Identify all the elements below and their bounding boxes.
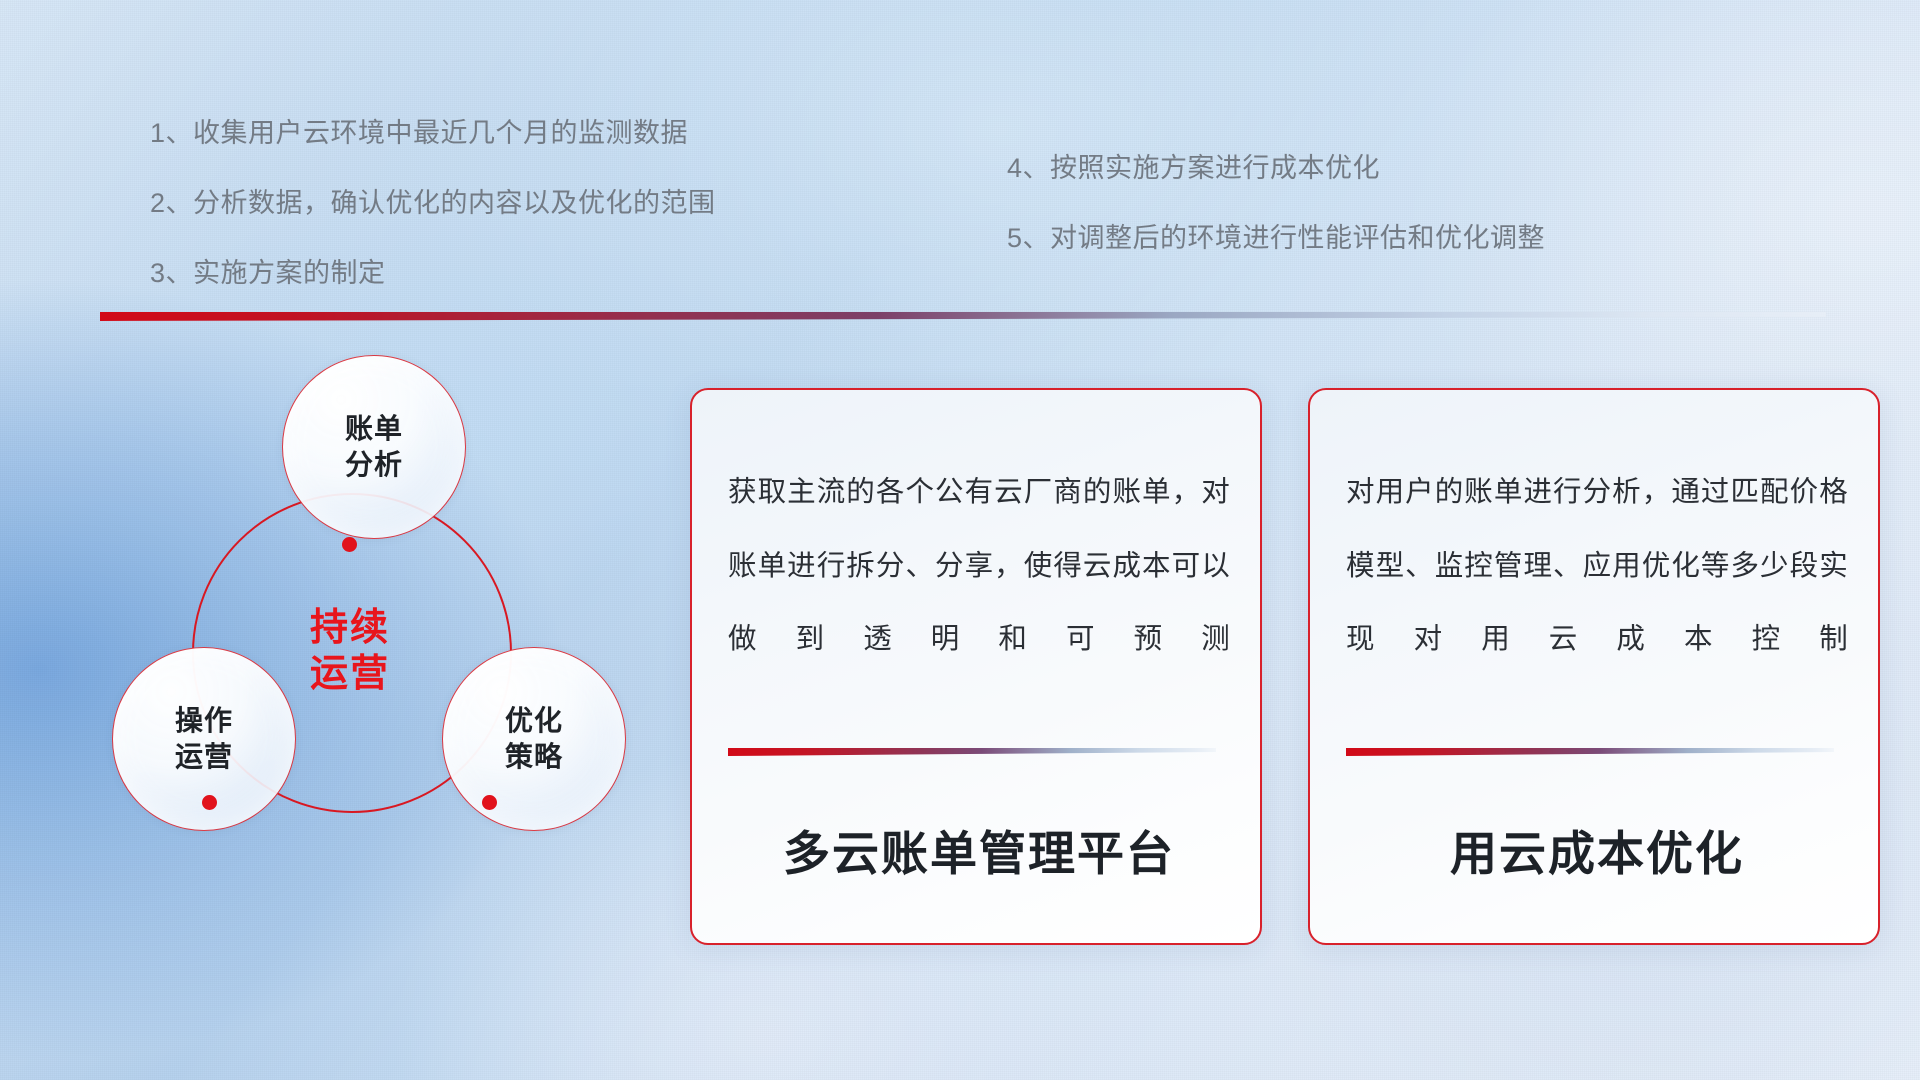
steps-list-right: 4、按照实施方案进行成本优化 5、对调整后的环境进行性能评估和优化调整 — [1007, 155, 1545, 252]
venn-connector-dot-right — [482, 795, 497, 810]
venn-connector-dot-top — [342, 537, 357, 552]
venn-node-optimize-policy-line1: 优化 — [505, 703, 563, 739]
step-item-4: 4、按照实施方案进行成本优化 — [1007, 155, 1545, 182]
venn-node-optimize-policy-line2: 策略 — [505, 739, 563, 775]
card-divider — [728, 748, 1216, 756]
card-divider — [1346, 748, 1834, 756]
venn-node-bill-analysis-line2: 分析 — [345, 447, 403, 483]
venn-connector-dot-left — [202, 795, 217, 810]
venn-center-label-line2: 运营 — [310, 651, 390, 697]
venn-diagram: 持续 运营 账单 分析 操作 运营 优化 策略 — [90, 355, 650, 955]
info-card-body: 获取主流的各个公有云厂商的账单，对账单进行拆分、分享，使得云成本可以做到透明和可… — [728, 456, 1230, 677]
step-item-3: 3、实施方案的制定 — [150, 260, 716, 287]
info-card-body: 对用户的账单进行分析，通过匹配价格模型、监控管理、应用优化等多少段实现对用云成本… — [1346, 456, 1848, 677]
step-item-2: 2、分析数据，确认优化的内容以及优化的范围 — [150, 190, 716, 217]
info-card-title: 多云账单管理平台 — [728, 815, 1230, 884]
steps-list-left: 1、收集用户云环境中最近几个月的监测数据 2、分析数据，确认优化的内容以及优化的… — [150, 120, 716, 287]
venn-node-bill-analysis-line1: 账单 — [345, 411, 403, 447]
info-card-cloud-cost-optimization[interactable]: 对用户的账单进行分析，通过匹配价格模型、监控管理、应用优化等多少段实现对用云成本… — [1308, 388, 1880, 945]
venn-center-label-line1: 持续 — [310, 605, 390, 651]
info-card-title: 用云成本优化 — [1346, 815, 1848, 884]
step-item-5: 5、对调整后的环境进行性能评估和优化调整 — [1007, 225, 1545, 252]
step-item-1: 1、收集用户云环境中最近几个月的监测数据 — [150, 120, 716, 147]
info-card-multi-cloud-billing[interactable]: 获取主流的各个公有云厂商的账单，对账单进行拆分、分享，使得云成本可以做到透明和可… — [690, 388, 1262, 945]
